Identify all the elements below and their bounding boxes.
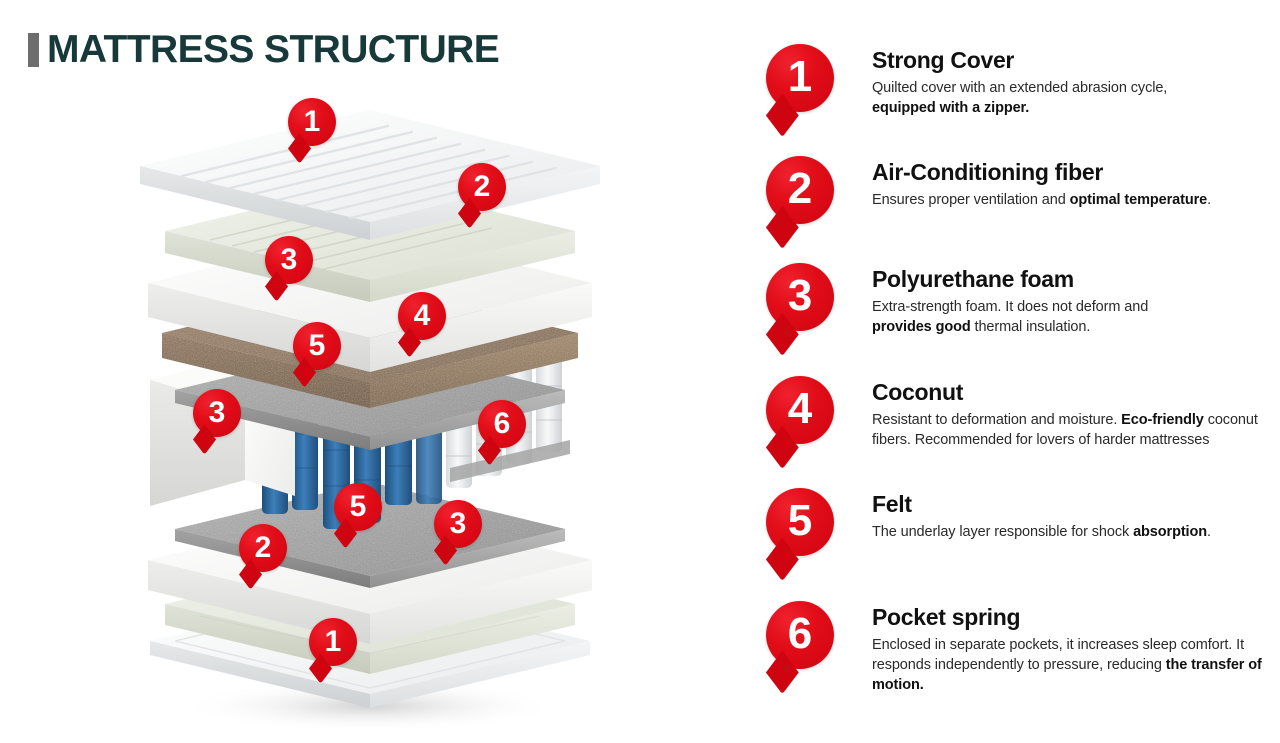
legend-text-3: Polyurethane foam Extra-strength foam. I… [872, 267, 1272, 337]
marker-fiber-top[interactable]: 2 [458, 163, 506, 211]
mattress-illustration: 1 2 3 4 5 3 6 5 3 2 1 [120, 88, 620, 728]
legend-body-1: Quilted cover with an extended abrasion … [872, 78, 1272, 118]
marker-number: 6 [788, 612, 812, 656]
legend-body-plain-1: Quilted cover with an extended abrasion … [872, 80, 1167, 96]
marker-number: 6 [494, 409, 511, 439]
marker-number: 2 [474, 172, 491, 202]
marker-felt-bottom[interactable]: 5 [334, 483, 382, 531]
title-accent-bar [28, 33, 39, 67]
marker-foam-bottom[interactable]: 3 [434, 500, 482, 548]
legend-body-4: Resistant to deformation and moisture. E… [872, 410, 1272, 450]
marker-number: 2 [788, 167, 812, 211]
marker-felt-top[interactable]: 5 [293, 322, 341, 370]
legend-heading-4: Coconut [872, 380, 1272, 406]
marker-number: 3 [788, 274, 812, 318]
marker-ball: 3 [434, 500, 482, 548]
marker-ball: 4 [766, 376, 834, 444]
legend-body-bold-4: Eco-friendly [1121, 412, 1204, 428]
legend-heading-1: Strong Cover [872, 48, 1272, 74]
marker-ball: 5 [766, 488, 834, 556]
legend-marker-6[interactable]: 6 [766, 601, 834, 669]
marker-ball: 4 [398, 292, 446, 340]
legend-body-plain-4: Resistant to deformation and moisture. [872, 412, 1121, 428]
legend-text-5: Felt The underlay layer responsible for … [872, 492, 1272, 542]
legend-body-plain-5: The underlay layer responsible for shock [872, 524, 1133, 540]
marker-foam-frame[interactable]: 3 [193, 389, 241, 437]
marker-ball: 3 [766, 263, 834, 331]
marker-ball: 5 [334, 483, 382, 531]
marker-ball: 6 [766, 601, 834, 669]
legend-body-6: Enclosed in separate pockets, it increas… [872, 635, 1272, 695]
marker-coconut[interactable]: 4 [398, 292, 446, 340]
legend-body-tail-5: . [1207, 524, 1211, 540]
infographic-page: MATTRESS STRUCTURE [0, 0, 1280, 743]
marker-quilted-cover-top[interactable]: 1 [288, 98, 336, 146]
legend-body-tail-3: thermal insulation. [971, 319, 1091, 335]
legend-body-bold-3: provides good [872, 319, 971, 335]
marker-pocket-spring[interactable]: 6 [478, 400, 526, 448]
marker-ball: 1 [309, 618, 357, 666]
marker-ball: 1 [766, 44, 834, 112]
legend-body-2: Ensures proper ventilation and optimal t… [872, 190, 1272, 210]
legend-body-plain-3: Extra-strength foam. It does not deform … [872, 299, 1148, 315]
legend-heading-3: Polyurethane foam [872, 267, 1272, 293]
marker-ball: 2 [239, 524, 287, 572]
marker-ball: 6 [478, 400, 526, 448]
legend-body-tail-2: . [1207, 192, 1211, 208]
marker-quilted-cover-bottom[interactable]: 1 [309, 618, 357, 666]
legend-text-6: Pocket spring Enclosed in separate pocke… [872, 605, 1272, 695]
legend-body-bold-2: optimal temperature [1070, 192, 1208, 208]
legend-heading-6: Pocket spring [872, 605, 1272, 631]
legend-text-2: Air-Conditioning fiber Ensures proper ve… [872, 160, 1272, 210]
marker-number: 5 [309, 331, 326, 361]
legend-marker-3[interactable]: 3 [766, 263, 834, 331]
marker-number: 5 [788, 499, 812, 543]
legend-heading-5: Felt [872, 492, 1272, 518]
legend-list: 1 Strong Cover Quilted cover with an ext… [760, 0, 1280, 743]
legend-body-bold-1: equipped with a zipper. [872, 100, 1029, 116]
marker-number: 3 [209, 398, 226, 428]
legend-marker-4[interactable]: 4 [766, 376, 834, 444]
page-title: MATTRESS STRUCTURE [28, 30, 499, 69]
marker-ball: 2 [458, 163, 506, 211]
legend-heading-2: Air-Conditioning fiber [872, 160, 1272, 186]
marker-foam-top[interactable]: 3 [265, 236, 313, 284]
legend-marker-2[interactable]: 2 [766, 156, 834, 224]
marker-number: 1 [304, 107, 321, 137]
marker-number: 3 [281, 245, 298, 275]
marker-number: 3 [450, 509, 467, 539]
legend-body-3: Extra-strength foam. It does not deform … [872, 297, 1272, 337]
marker-number: 5 [350, 492, 367, 522]
title-text: MATTRESS STRUCTURE [47, 30, 499, 69]
marker-number: 4 [414, 301, 431, 331]
legend-body-plain-2: Ensures proper ventilation and [872, 192, 1070, 208]
legend-marker-1[interactable]: 1 [766, 44, 834, 112]
marker-ball: 2 [766, 156, 834, 224]
marker-ball: 3 [265, 236, 313, 284]
legend-text-1: Strong Cover Quilted cover with an exten… [872, 48, 1272, 118]
legend-text-4: Coconut Resistant to deformation and moi… [872, 380, 1272, 450]
marker-fiber-bottom[interactable]: 2 [239, 524, 287, 572]
marker-ball: 5 [293, 322, 341, 370]
marker-number: 2 [255, 533, 272, 563]
legend-marker-5[interactable]: 5 [766, 488, 834, 556]
marker-ball: 1 [288, 98, 336, 146]
legend-body-bold-5: absorption [1133, 524, 1207, 540]
marker-number: 1 [788, 55, 812, 99]
marker-ball: 3 [193, 389, 241, 437]
marker-number: 1 [325, 627, 342, 657]
marker-number: 4 [788, 387, 812, 431]
legend-body-5: The underlay layer responsible for shock… [872, 522, 1272, 542]
